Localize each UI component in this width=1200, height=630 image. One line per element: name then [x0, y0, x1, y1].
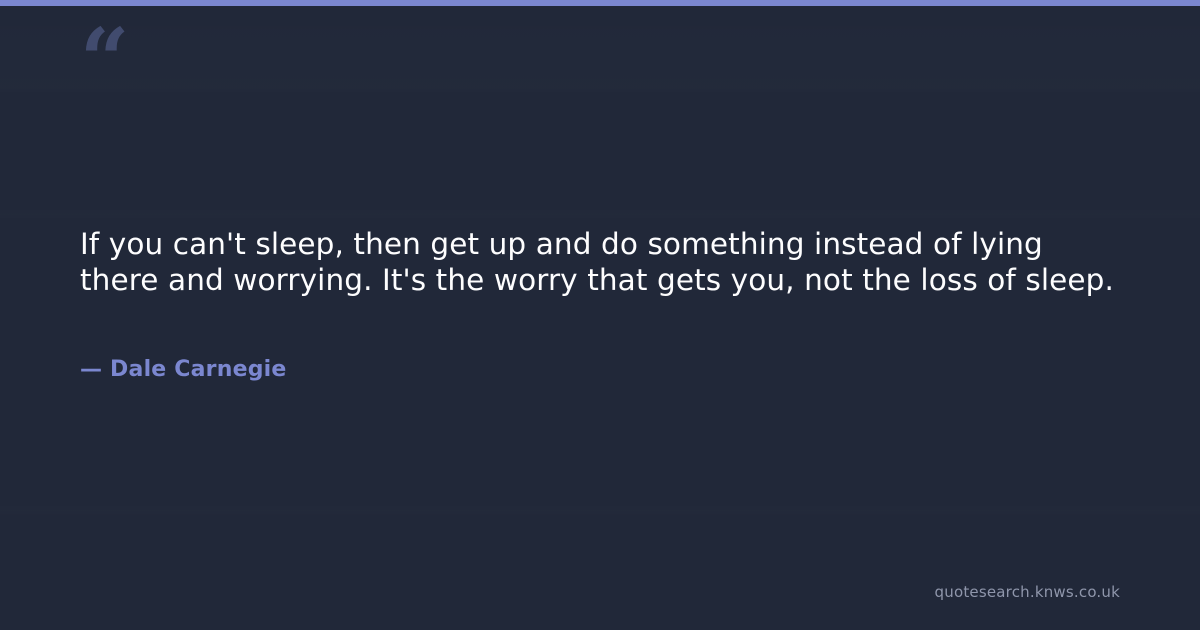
quote-text: If you can't sleep, then get up and do s… — [80, 226, 1130, 298]
quote-attribution: — Dale Carnegie — [80, 356, 287, 384]
top-accent-bar — [0, 0, 1200, 6]
background-banding — [0, 0, 1200, 630]
quote-body: If you can't sleep, then get up and do s… — [80, 226, 1130, 298]
source-website-label: quotesearch.knws.co.uk — [935, 582, 1120, 602]
open-quote-icon: “ — [80, 18, 127, 104]
quote-card: “ If you can't sleep, then get up and do… — [0, 0, 1200, 630]
